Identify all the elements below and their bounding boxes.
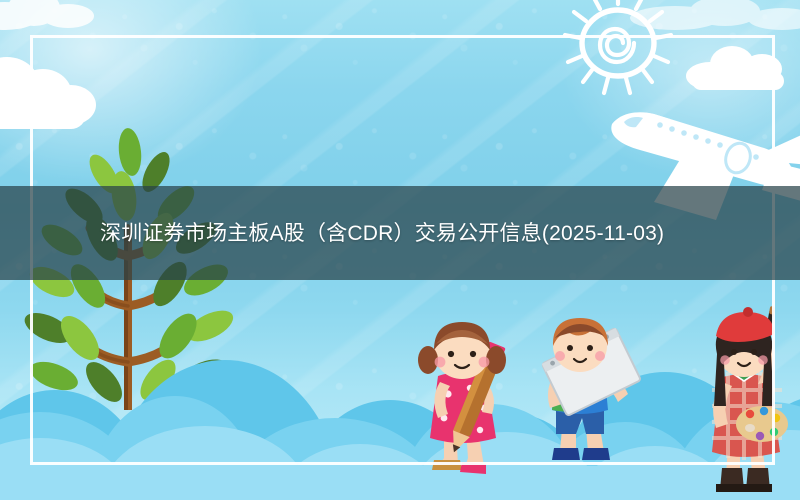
character-girl-with-pencil	[404, 310, 524, 480]
character-girl-painting	[686, 306, 800, 500]
cloud-bank-front	[0, 418, 800, 500]
character-boy-with-notebook	[524, 310, 654, 480]
cloud-top-right	[630, 0, 800, 34]
page-title: 深圳证券市场主板A股（含CDR）交易公开信息(2025-11-03)	[0, 218, 800, 249]
title-overlay-band: 深圳证券市场主板A股（含CDR）交易公开信息(2025-11-03)	[0, 186, 800, 280]
banner-image: 深圳证券市场主板A股（含CDR）交易公开信息(2025-11-03)	[0, 0, 800, 500]
cloud-top-left	[0, 0, 120, 32]
